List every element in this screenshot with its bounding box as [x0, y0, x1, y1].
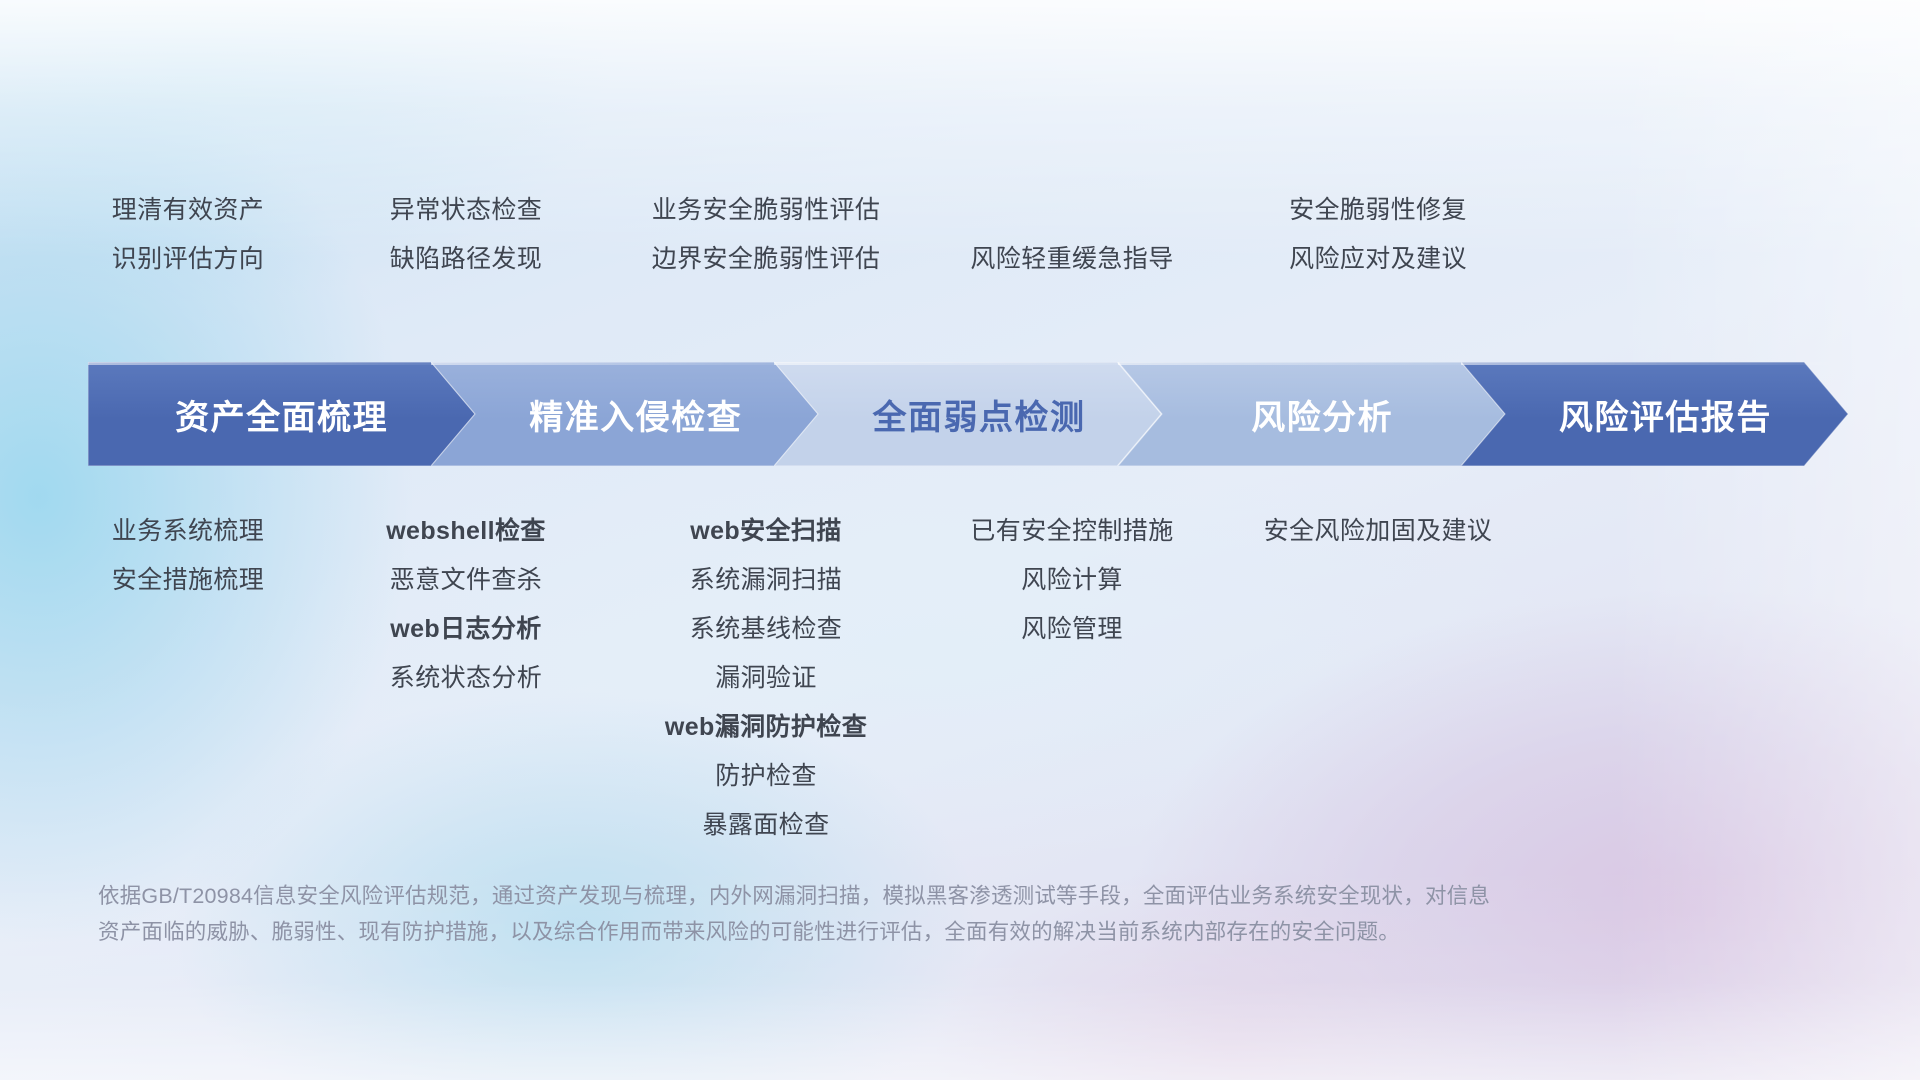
stage-5-input-item: 风险应对及建议: [1058, 235, 1698, 284]
stage-3-output-item: web漏洞防护检查: [446, 703, 1086, 752]
stage-5-input-item: 安全脆弱性修复: [1058, 186, 1698, 235]
process-stage-4[interactable]: 风险分析: [1118, 362, 1505, 466]
process-chevron-bar: 资产全面梳理 精准入侵检查: [88, 362, 1848, 466]
stage-2-title: 精准入侵检查: [507, 390, 742, 439]
stage-5-output-item: 安全风险加固及建议: [1058, 507, 1698, 556]
process-stage-5[interactable]: 风险评估报告: [1461, 362, 1848, 466]
footer-note-line-2: 资产面临的威胁、脆弱性、现有防护措施，以及综合作用而带来风险的可能性进行评估，全…: [98, 914, 1658, 950]
footer-note-line-1: 依据GB/T20984信息安全风险评估规范，通过资产发现与梳理，内外网漏洞扫描，…: [98, 878, 1658, 914]
stage-5-inputs: 安全脆弱性修复风险应对及建议: [1058, 186, 1698, 284]
stage-4-title: 风险分析: [1229, 390, 1393, 439]
stage-3-input-item: 业务安全脆弱性评估: [446, 186, 1086, 235]
stage-4-output-item: 风险计算: [752, 556, 1392, 605]
process-stage-1[interactable]: 资产全面梳理: [88, 362, 475, 466]
slide-canvas: 理清有效资产识别评估方向业务系统梳理安全措施梳理异常状态检查缺陷路径发现webs…: [0, 0, 1920, 1080]
stage-4-output-item: 风险管理: [752, 605, 1392, 654]
stage-3-output-item: 防护检查: [446, 752, 1086, 801]
footer-note: 依据GB/T20984信息安全风险评估规范，通过资产发现与梳理，内外网漏洞扫描，…: [98, 878, 1658, 950]
stage-3-output-item: 暴露面检查: [446, 801, 1086, 850]
process-stage-3[interactable]: 全面弱点检测: [774, 362, 1161, 466]
process-stage-2[interactable]: 精准入侵检查: [431, 362, 818, 466]
stage-1-title: 资产全面梳理: [175, 390, 388, 439]
stage-3-output-item: 漏洞验证: [446, 654, 1086, 703]
stage-5-title: 风险评估报告: [1537, 390, 1772, 439]
stage-5-outputs: 安全风险加固及建议: [1058, 507, 1698, 556]
stage-3-title: 全面弱点检测: [850, 390, 1085, 439]
